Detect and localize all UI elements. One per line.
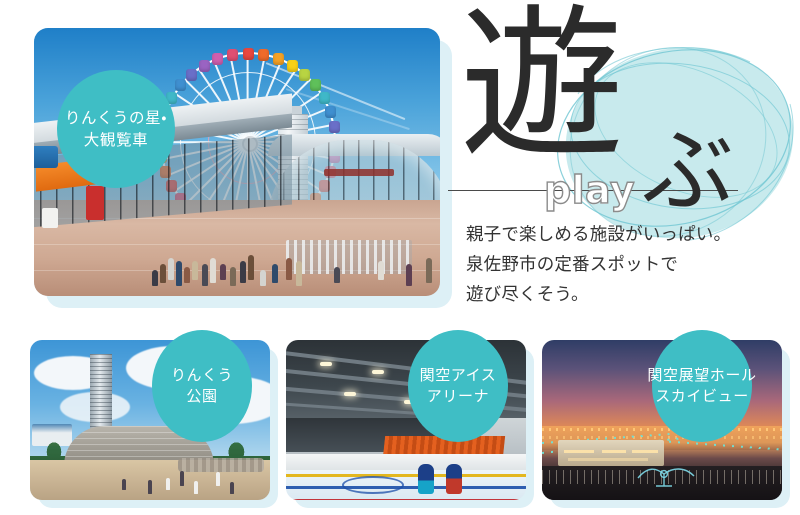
visitor-silhouette	[210, 258, 216, 283]
visitor-silhouette	[192, 261, 198, 280]
wheel-cabin	[299, 69, 310, 81]
visitor-silhouette	[296, 261, 302, 286]
headline-kanji: 遊	[460, 4, 621, 168]
visitor-silhouette	[152, 270, 158, 286]
visitor-silhouette	[202, 264, 208, 286]
visitor-silhouette	[230, 482, 234, 494]
badge-line: 関空アイス	[420, 365, 497, 386]
wheel-cabin	[310, 79, 321, 91]
visitor-silhouette	[248, 255, 254, 280]
visitor-silhouette	[176, 261, 182, 286]
visitor-silhouette	[122, 479, 126, 490]
visitor-silhouette	[286, 258, 292, 280]
badge-line: りんくうの星・	[65, 107, 167, 129]
lede-line: 遊び尽くそう。	[466, 280, 796, 310]
runway-lights	[542, 428, 782, 431]
badge-line: 大観覧車	[84, 129, 148, 151]
badge-hero-rinku-ferris-wheel[interactable]: りんくうの星・ 大観覧車	[57, 70, 175, 188]
shore-rocks	[178, 458, 264, 472]
visitor-silhouette	[230, 267, 236, 286]
wheel-cabin	[287, 60, 298, 72]
wheel-cabin	[199, 60, 210, 72]
badge-rinku-park[interactable]: りんくう 公園	[152, 330, 252, 442]
badge-kanku-sky-view[interactable]: 関空展望ホール スカイビュー	[652, 330, 752, 442]
visitor-silhouette	[180, 471, 184, 486]
pavilion-signage	[324, 169, 394, 176]
neon-outline-art	[634, 458, 698, 488]
wheel-cabin	[227, 49, 238, 61]
red-signboard	[86, 186, 104, 220]
badge-line: 公園	[186, 386, 217, 407]
white-signboard	[42, 208, 58, 228]
visitor-silhouette	[378, 261, 384, 280]
visitor-silhouette	[148, 480, 152, 494]
visitor-silhouette	[160, 264, 166, 283]
badge-line: りんくう	[171, 365, 233, 386]
lede-line: 親子で楽しめる施設がいっぱい。	[466, 220, 796, 250]
visitor-silhouette	[426, 258, 432, 283]
visitor-silhouette	[166, 478, 170, 490]
wheel-cabin	[186, 69, 197, 81]
wheel-cabin	[325, 106, 336, 118]
mascot-character	[418, 464, 434, 494]
poster-canvas: りんくうの星・ 大観覧車 遊 ぶ play 親子で楽しめる施設がいっぱい。 泉佐…	[0, 0, 800, 515]
lede-paragraph: 親子で楽しめる施設がいっぱい。 泉佐野市の定番スポットで 遊び尽くそう。	[466, 220, 796, 310]
badge-line: 関空展望ホール	[647, 365, 756, 386]
outdoor-chairs	[286, 240, 412, 274]
visitor-silhouette	[216, 472, 220, 486]
wheel-cabin	[243, 48, 254, 60]
headline-romaji-play: play	[544, 168, 635, 212]
visitor-silhouette	[194, 481, 198, 494]
badge-line: スカイビュー	[655, 386, 749, 407]
visitor-silhouette	[240, 261, 246, 283]
lede-line: 泉佐野市の定番スポットで	[466, 250, 796, 280]
visitor-silhouette	[406, 264, 412, 286]
badge-kanku-ice-arena[interactable]: 関空アイス アリーナ	[408, 330, 508, 442]
visitor-silhouette	[334, 267, 340, 283]
visitor-silhouette	[168, 258, 174, 280]
wheel-cabin	[258, 49, 269, 61]
wheel-cabin	[319, 92, 330, 104]
visitor-silhouette	[184, 267, 190, 283]
headline-block: 遊 ぶ play 親子で楽しめる施設がいっぱい。 泉佐野市の定番スポットで 遊び…	[452, 18, 800, 318]
wheel-cabin	[273, 53, 284, 65]
wheel-cabin	[212, 53, 223, 65]
badge-line: アリーナ	[427, 386, 489, 407]
wheel-cabin	[175, 79, 186, 91]
headline-kana: ぶ	[642, 126, 734, 218]
shop-sign	[34, 146, 58, 168]
visitor-silhouette	[272, 264, 278, 283]
mascot-character	[446, 464, 462, 494]
wheel-cabin	[329, 121, 340, 133]
ice-surface	[286, 470, 526, 500]
visitor-silhouette	[220, 264, 226, 280]
visitor-silhouette	[260, 270, 266, 286]
